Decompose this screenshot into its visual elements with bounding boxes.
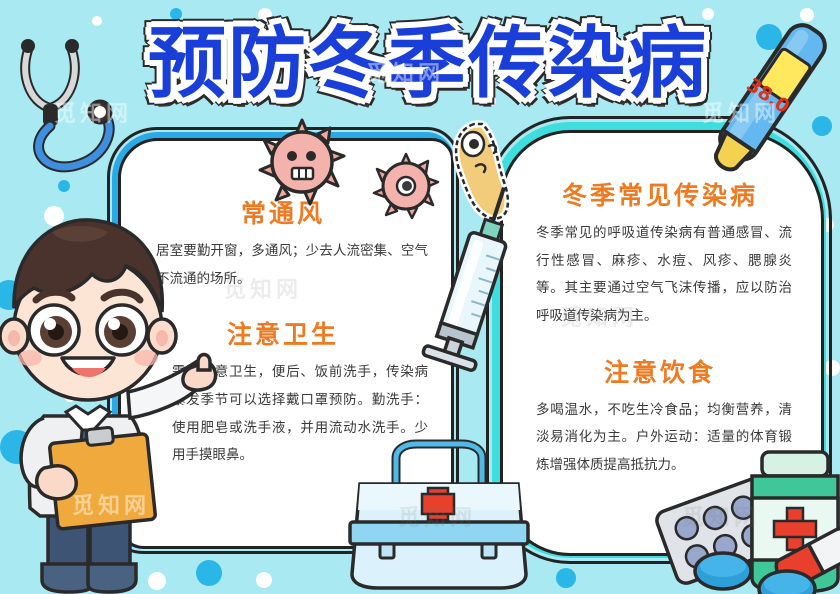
bubble [256, 572, 272, 588]
virus-icon [258, 118, 346, 206]
right-panel-content: 冬季常见传染病 冬季常见的呼吸道传染病有普通感冒、流行性感冒、麻疹、水痘、风疹、… [512, 176, 808, 480]
section-body-common-diseases: 冬季常见的呼吸道传染病有普通感冒、流行性感冒、麻疹、水痘、风疹、腮腺炎等。其主要… [512, 220, 808, 331]
syringe-icon [430, 180, 540, 370]
section-heading-common-diseases: 冬季常见传染病 [512, 176, 808, 212]
poster-title-text: 预防冬季传染病 [148, 25, 708, 103]
doctor-character [0, 216, 206, 594]
poster-title: 预防冬季传染病 [98, 14, 758, 114]
medical-kit-icon [340, 428, 536, 594]
pill-icon [756, 568, 818, 594]
bubble [556, 568, 576, 588]
bubble [800, 8, 814, 22]
section-heading-diet: 注意饮食 [512, 353, 808, 389]
bubble [58, 180, 70, 192]
poster-canvas: 预防冬季传染病 38.0 [0, 0, 840, 594]
red-cross-icon [422, 488, 454, 520]
pill-icon [692, 550, 754, 592]
